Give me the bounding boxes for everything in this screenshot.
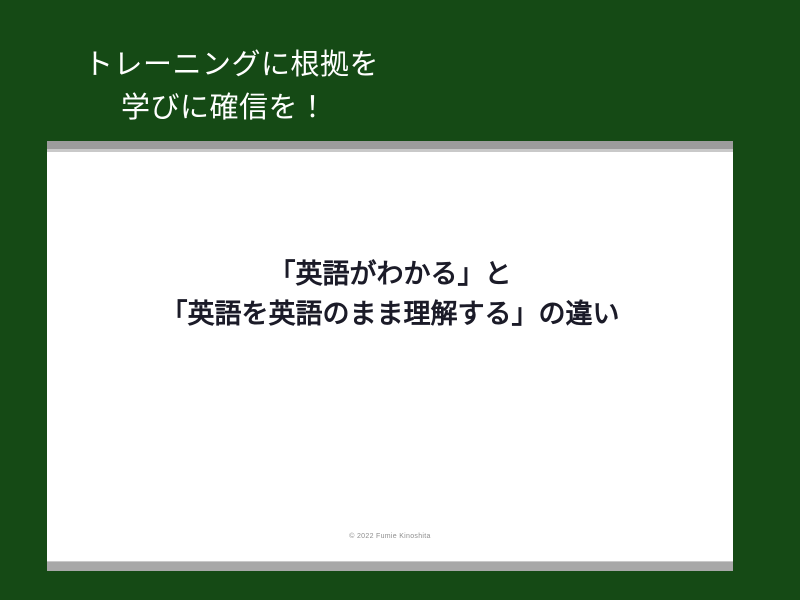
deck-heading: トレーニングに根拠を 学びに確信を！ (0, 44, 800, 130)
slide-bottom-bar (47, 561, 733, 571)
slide-card: 「英語がわかる」と 「英語を英語のまま理解する」の違い © 2022 Fumie… (47, 141, 733, 571)
slide-title-line-1: 「英語がわかる」と (47, 255, 733, 295)
deck-heading-line-2: 学びに確信を！ (0, 87, 800, 130)
slide-top-bar (47, 141, 733, 152)
slide-title: 「英語がわかる」と 「英語を英語のまま理解する」の違い (47, 255, 733, 335)
slide-content-area: 「英語がわかる」と 「英語を英語のまま理解する」の違い © 2022 Fumie… (47, 152, 733, 561)
slide-stage: トレーニングに根拠を 学びに確信を！ 「英語がわかる」と 「英語を英語のまま理解… (0, 0, 800, 600)
slide-title-line-2: 「英語を英語のまま理解する」の違い (47, 295, 733, 335)
copyright-footer: © 2022 Fumie Kinoshita (47, 533, 733, 540)
deck-heading-line-1: トレーニングに根拠を (0, 44, 800, 87)
